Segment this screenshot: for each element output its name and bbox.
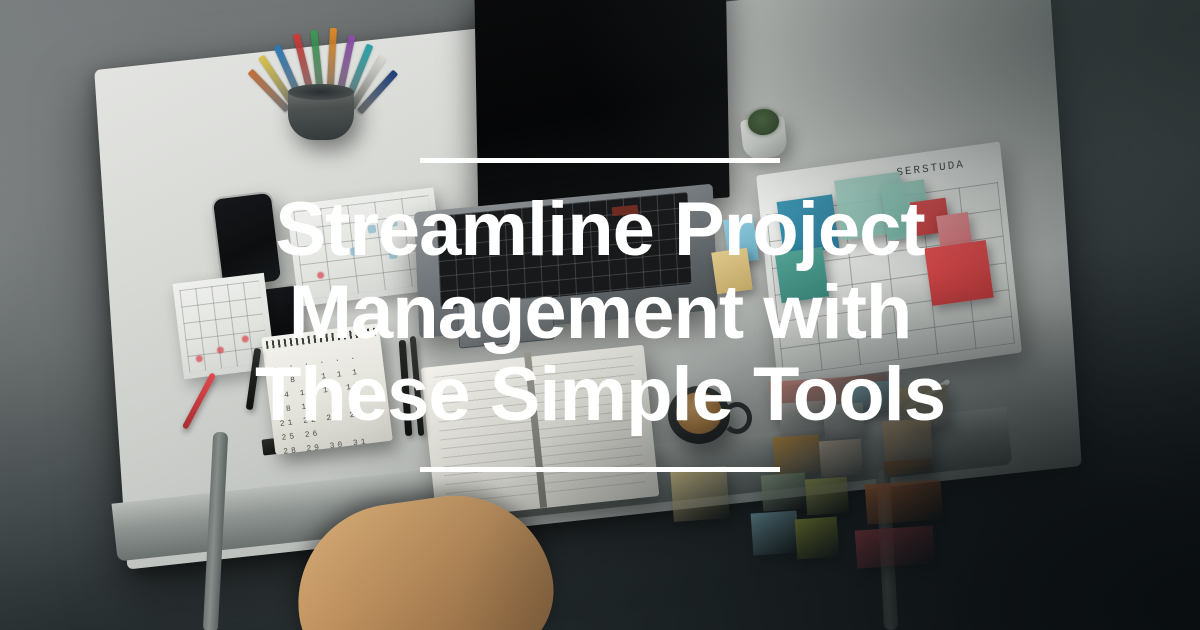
page-title: Streamline Project Management with These… — [250, 189, 950, 437]
divider-top — [420, 158, 780, 163]
divider-bottom — [420, 467, 780, 472]
og-banner: SERSTUDA · · · · · ·7 8 9 1 1 114 15 16 … — [0, 0, 1200, 630]
title-block: Streamline Project Management with These… — [0, 0, 1200, 630]
